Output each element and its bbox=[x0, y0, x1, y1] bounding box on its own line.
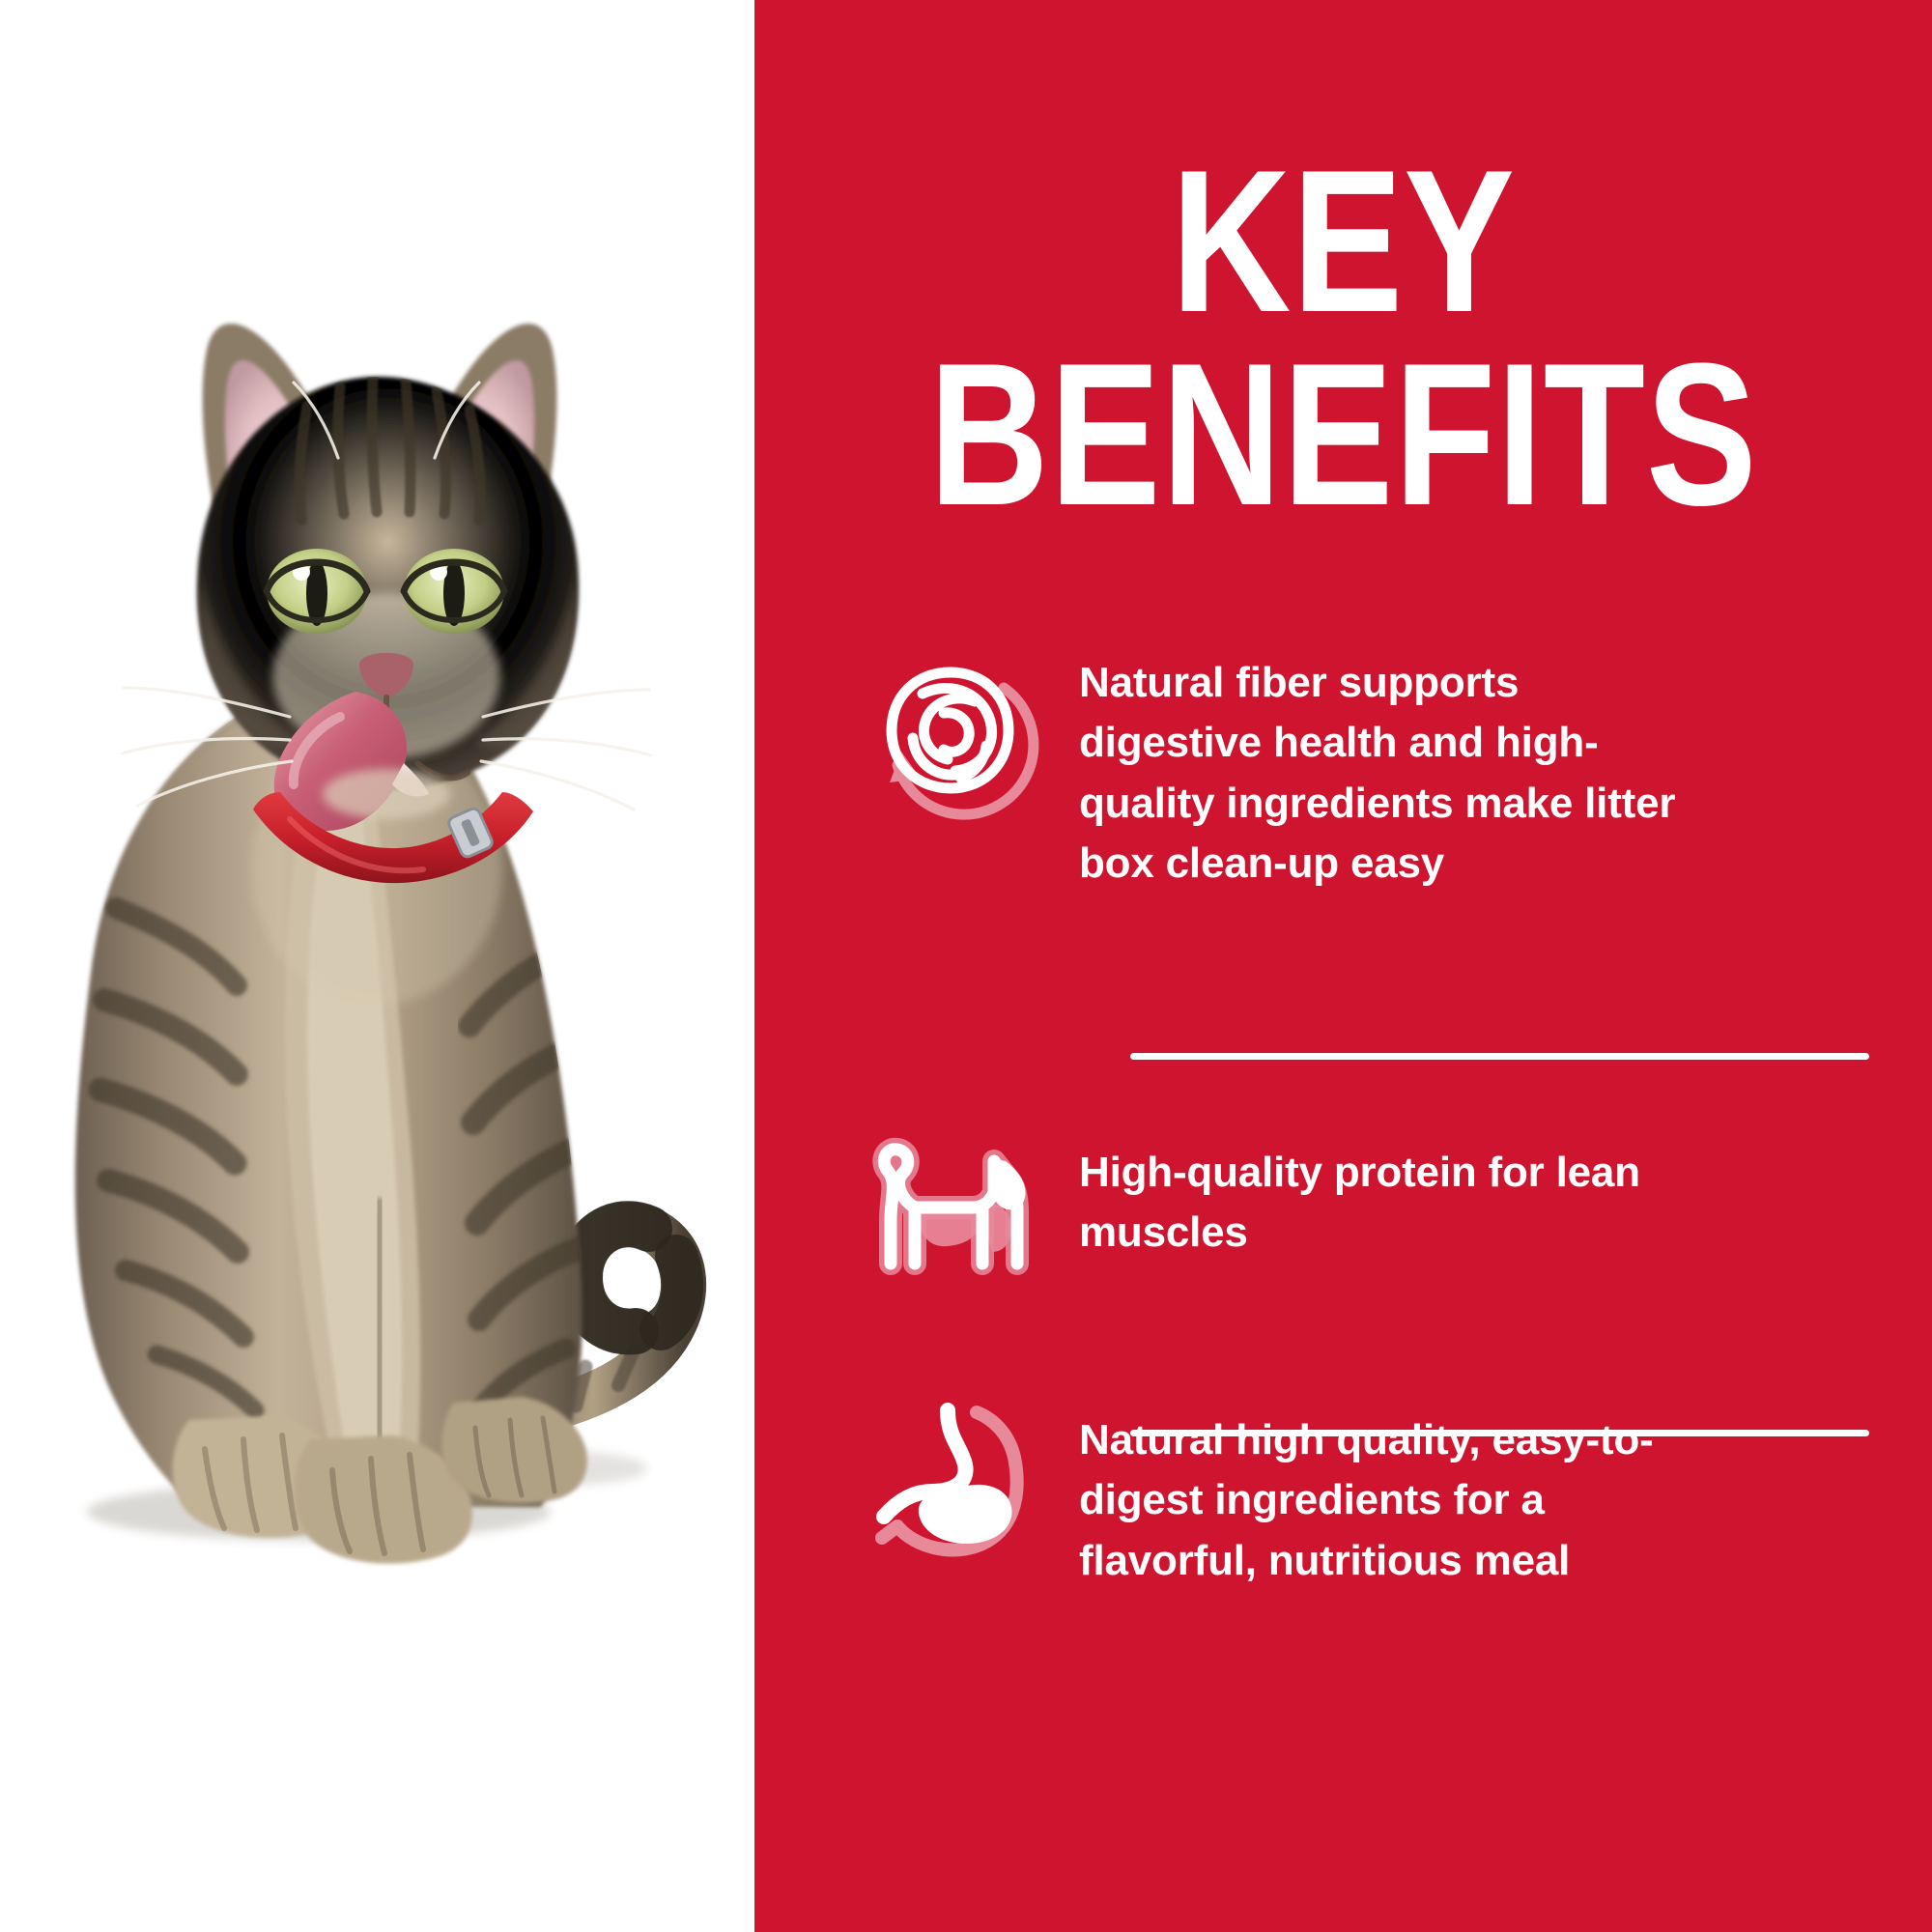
cat-photo-panel bbox=[0, 0, 754, 1932]
benefit-text: Natural high quality, easy-to-digest ing… bbox=[1079, 1410, 1678, 1591]
headline-line-2: BENEFITS bbox=[861, 338, 1827, 531]
key-benefits-panel: KEY BENEFITS bbox=[0, 0, 1932, 1932]
benefits-list: Natural fiber supports digestive health … bbox=[754, 638, 1932, 1758]
fiber-swirl-icon bbox=[859, 638, 1042, 821]
benefit-text: High-quality protein for lean muscles bbox=[1079, 1143, 1678, 1264]
benefits-red-panel: KEY BENEFITS bbox=[754, 0, 1932, 1932]
benefit-item: High-quality protein for lean muscles bbox=[754, 1014, 1932, 1391]
headline-line-1: KEY bbox=[861, 145, 1827, 338]
stomach-icon bbox=[859, 1391, 1042, 1575]
cat-photo bbox=[0, 0, 754, 1932]
benefit-text: Natural fiber supports digestive health … bbox=[1079, 653, 1678, 895]
benefit-item: Natural fiber supports digestive health … bbox=[754, 638, 1932, 1014]
page-title: KEY BENEFITS bbox=[861, 145, 1827, 530]
benefit-item: Natural high quality, easy-to-digest ing… bbox=[754, 1391, 1932, 1758]
cat-muscle-icon bbox=[859, 1111, 1042, 1294]
